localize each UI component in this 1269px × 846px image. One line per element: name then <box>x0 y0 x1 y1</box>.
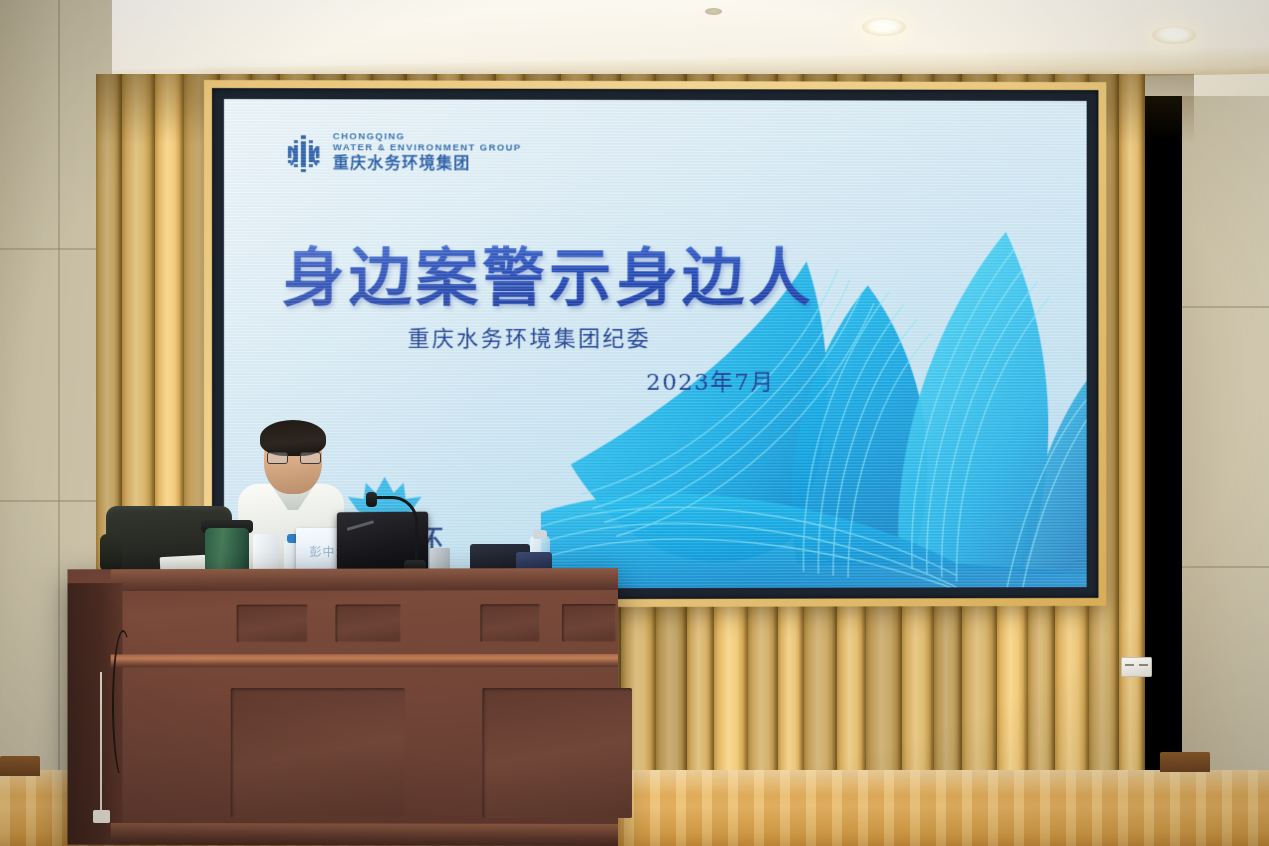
brand-chinese: 重庆水务环境集团 <box>333 156 522 175</box>
podium-panel <box>335 604 400 642</box>
conference-room-photo: CHONGQING WATER & ENVIRONMENT GROUP 重庆水务… <box>0 0 1269 846</box>
podium-top-surface <box>111 568 618 591</box>
brand-logo: CHONGQING WATER & ENVIRONMENT GROUP 重庆水务… <box>286 131 522 175</box>
presenter-hair <box>260 420 326 456</box>
power-plug <box>93 810 110 823</box>
podium-plinth <box>111 823 618 846</box>
podium-panel <box>562 604 616 642</box>
water-group-mark-icon <box>286 133 322 173</box>
glasses-icon <box>267 452 321 464</box>
podium-panel <box>231 688 405 818</box>
power-cable <box>112 630 134 780</box>
wall-outlet-icon[interactable] <box>1121 657 1152 677</box>
baseboard-left <box>0 756 40 776</box>
power-cable-white <box>100 672 102 812</box>
slide-date: 2023年7月 <box>646 363 774 397</box>
slide-subtitle: 重庆水务环境集团纪委彭中波 <box>408 321 652 353</box>
podium-panel <box>237 605 308 643</box>
downlight-icon <box>862 18 906 36</box>
subtitle-org: 重庆水务环境集团纪委 <box>408 327 652 352</box>
downlight-icon <box>1152 26 1196 44</box>
slide-title: 身边案警示身边人 <box>282 227 815 318</box>
thermos-flask <box>205 528 249 574</box>
podium-panel <box>482 688 632 818</box>
baseboard-right <box>1160 752 1210 772</box>
wall-slat <box>1119 74 1145 788</box>
podium-moulding-rail <box>111 654 618 667</box>
podium-desk <box>68 568 618 846</box>
microphone-head-icon <box>366 492 377 507</box>
stone-wall-right <box>1182 96 1269 776</box>
brand-english-line2: WATER & ENVIRONMENT GROUP <box>333 142 522 154</box>
podium-panel <box>480 604 540 642</box>
chair-armrest <box>100 534 122 572</box>
sprinkler-icon <box>705 8 722 15</box>
bottle-cap <box>533 530 547 539</box>
brand-english-line1: CHONGQING <box>333 131 522 143</box>
